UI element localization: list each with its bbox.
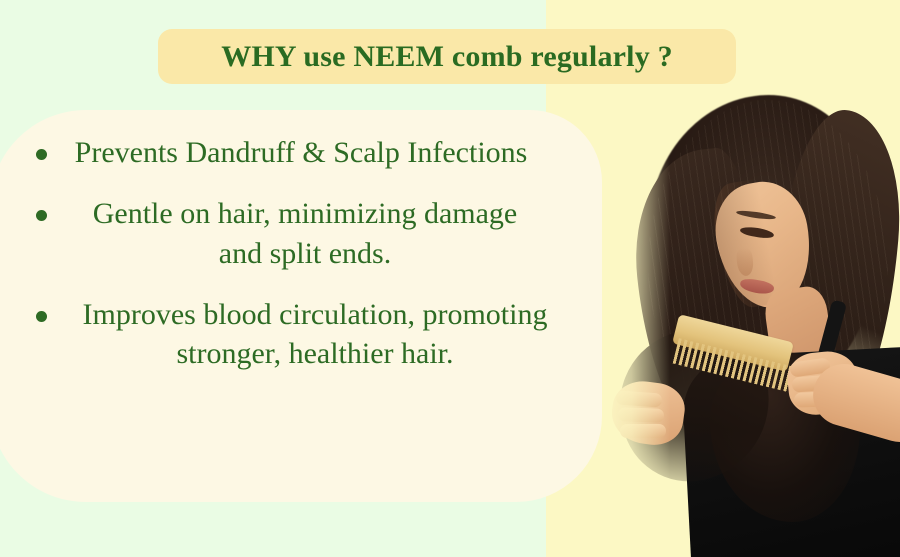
bullet-dot-icon bbox=[36, 149, 47, 160]
bullet-dot-icon bbox=[36, 210, 47, 221]
list-item: Improves blood circulation, promoting st… bbox=[0, 295, 600, 374]
title-banner: WHY use NEEM comb regularly ? bbox=[158, 29, 736, 84]
list-item: Gentle on hair, minimizing damage and sp… bbox=[0, 194, 600, 273]
list-item-label: Gentle on hair, minimizing damage and sp… bbox=[72, 194, 600, 273]
bullet-dot-icon bbox=[36, 311, 47, 322]
list-item-label: Prevents Dandruff & Scalp Infections bbox=[72, 133, 600, 172]
neem-comb-poster: WHY use NEEM comb regularly ? Prevents D… bbox=[0, 0, 900, 557]
page-title: WHY use NEEM comb regularly ? bbox=[221, 40, 673, 74]
list-item-label: Improves blood circulation, promoting st… bbox=[72, 295, 600, 374]
list-item: Prevents Dandruff & Scalp Infections bbox=[0, 133, 600, 172]
benefits-list: Prevents Dandruff & Scalp Infections Gen… bbox=[0, 133, 600, 395]
